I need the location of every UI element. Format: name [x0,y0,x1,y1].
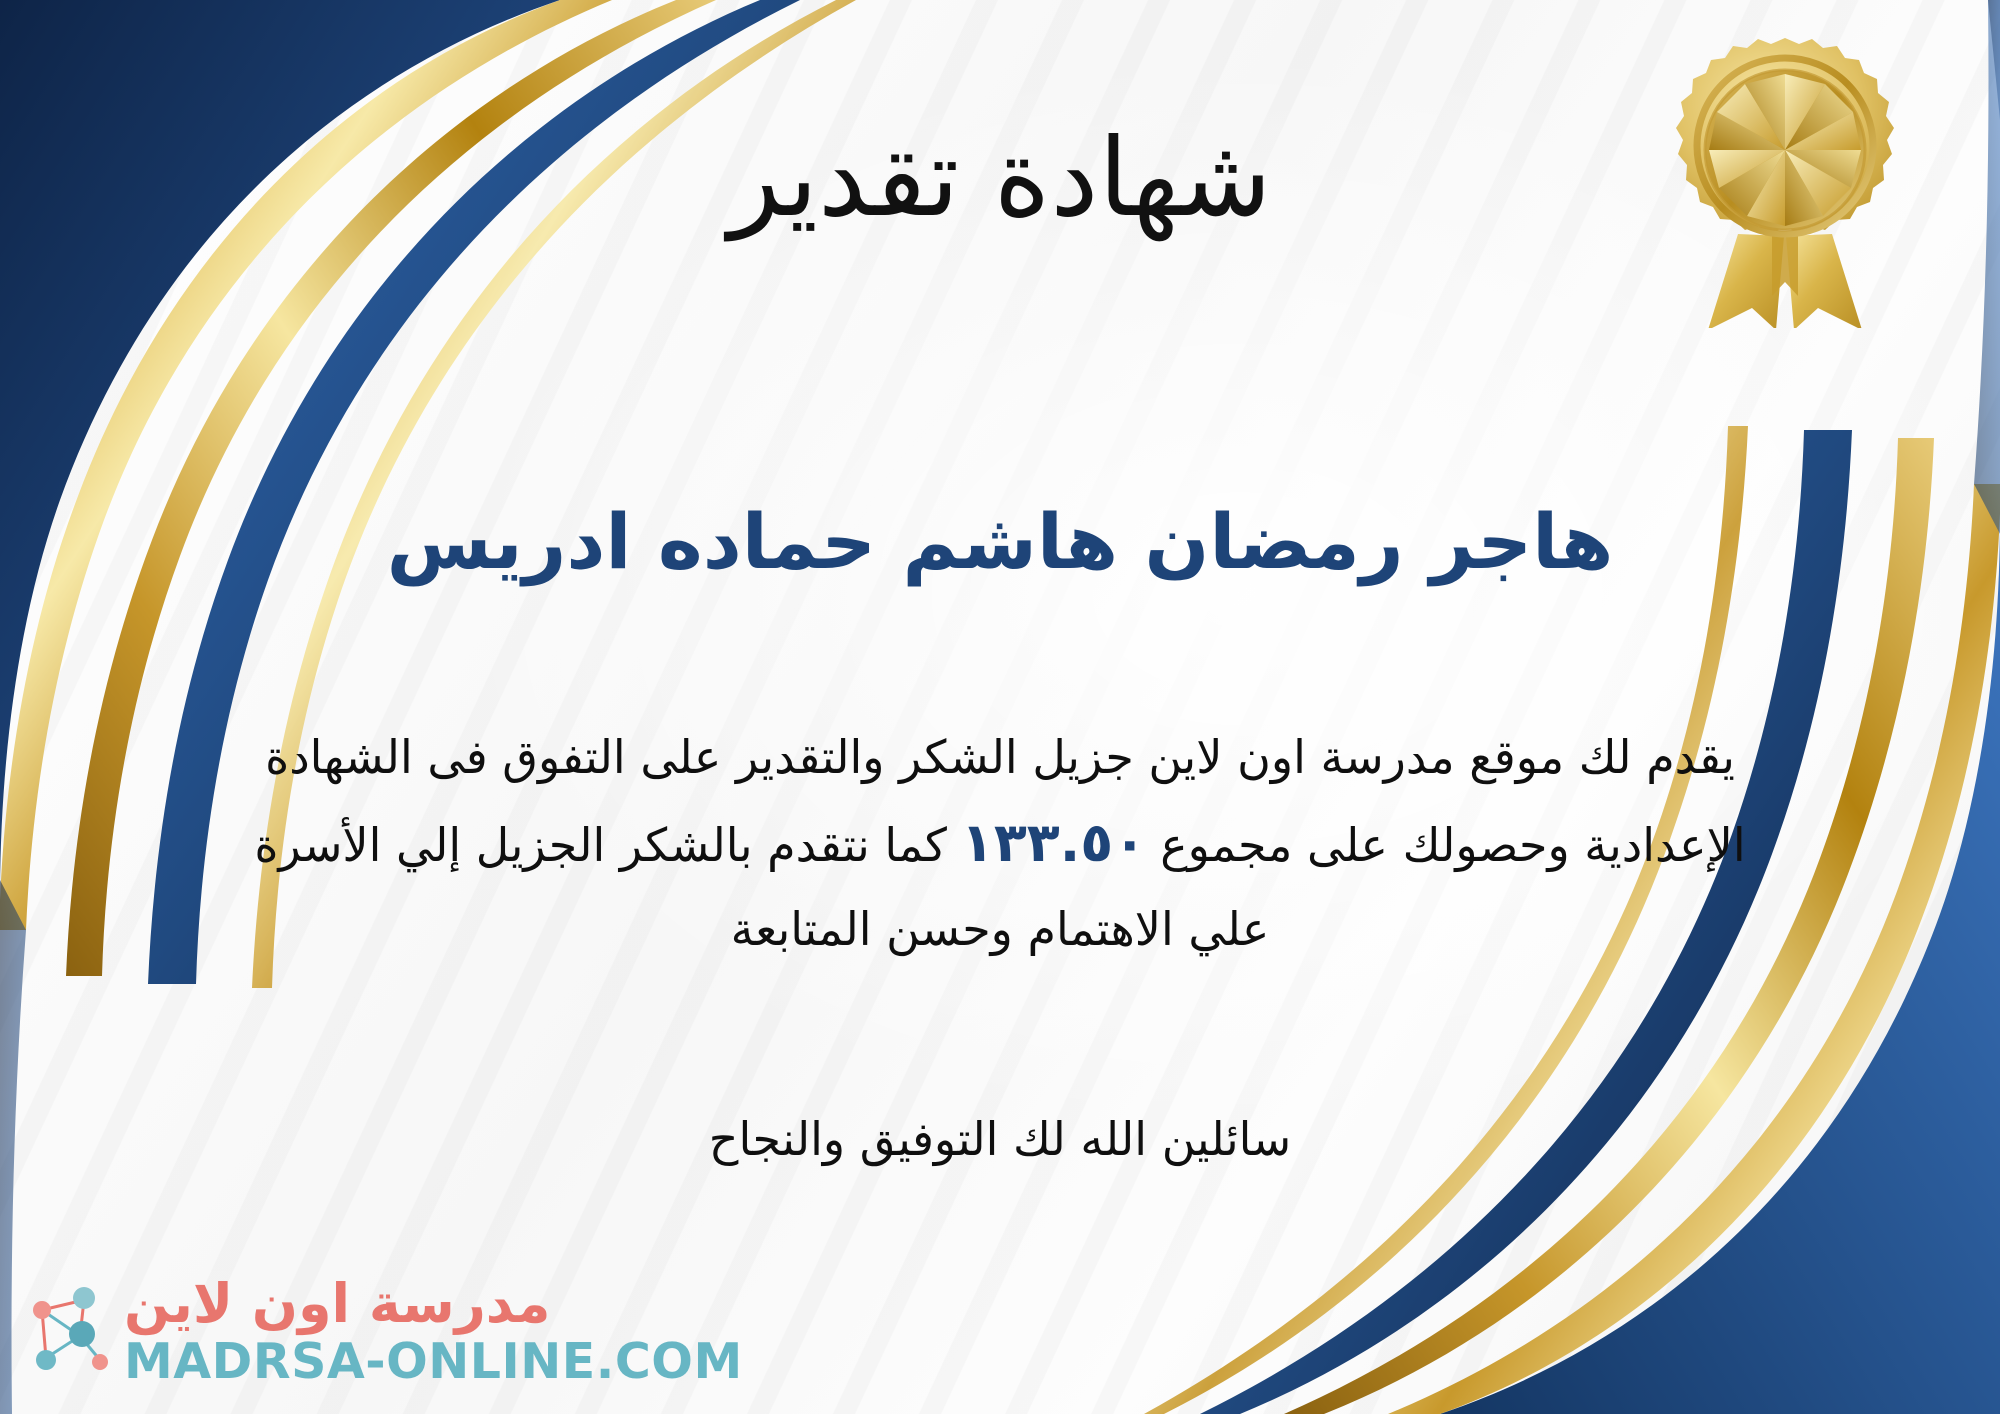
brand-logo[interactable]: مدرسة اون لاين MADRSA-ONLINE.COM [22,1277,743,1386]
network-nodes-icon [22,1284,114,1380]
brand-text-block: مدرسة اون لاين MADRSA-ONLINE.COM [124,1277,743,1386]
certificate-body-paragraph: يقدم لك موقع مدرسة اون لاين جزيل الشكر و… [215,718,1785,969]
brand-arabic-name: مدرسة اون لاين [124,1277,550,1331]
recipient-name: هاجر رمضان هاشم حماده ادريس [0,498,2000,585]
brand-website-url[interactable]: MADRSA-ONLINE.COM [124,1337,743,1386]
closing-wish-text: سائلين الله لك التوفيق والنجاح [215,1112,1785,1166]
total-score-value: ١٣٣.٥٠ [947,811,1160,874]
certificate-canvas: شهادة تقدير هاجر رمضان هاشم حماده ادريس … [0,0,2000,1414]
gold-award-medal-icon [1660,38,1910,328]
